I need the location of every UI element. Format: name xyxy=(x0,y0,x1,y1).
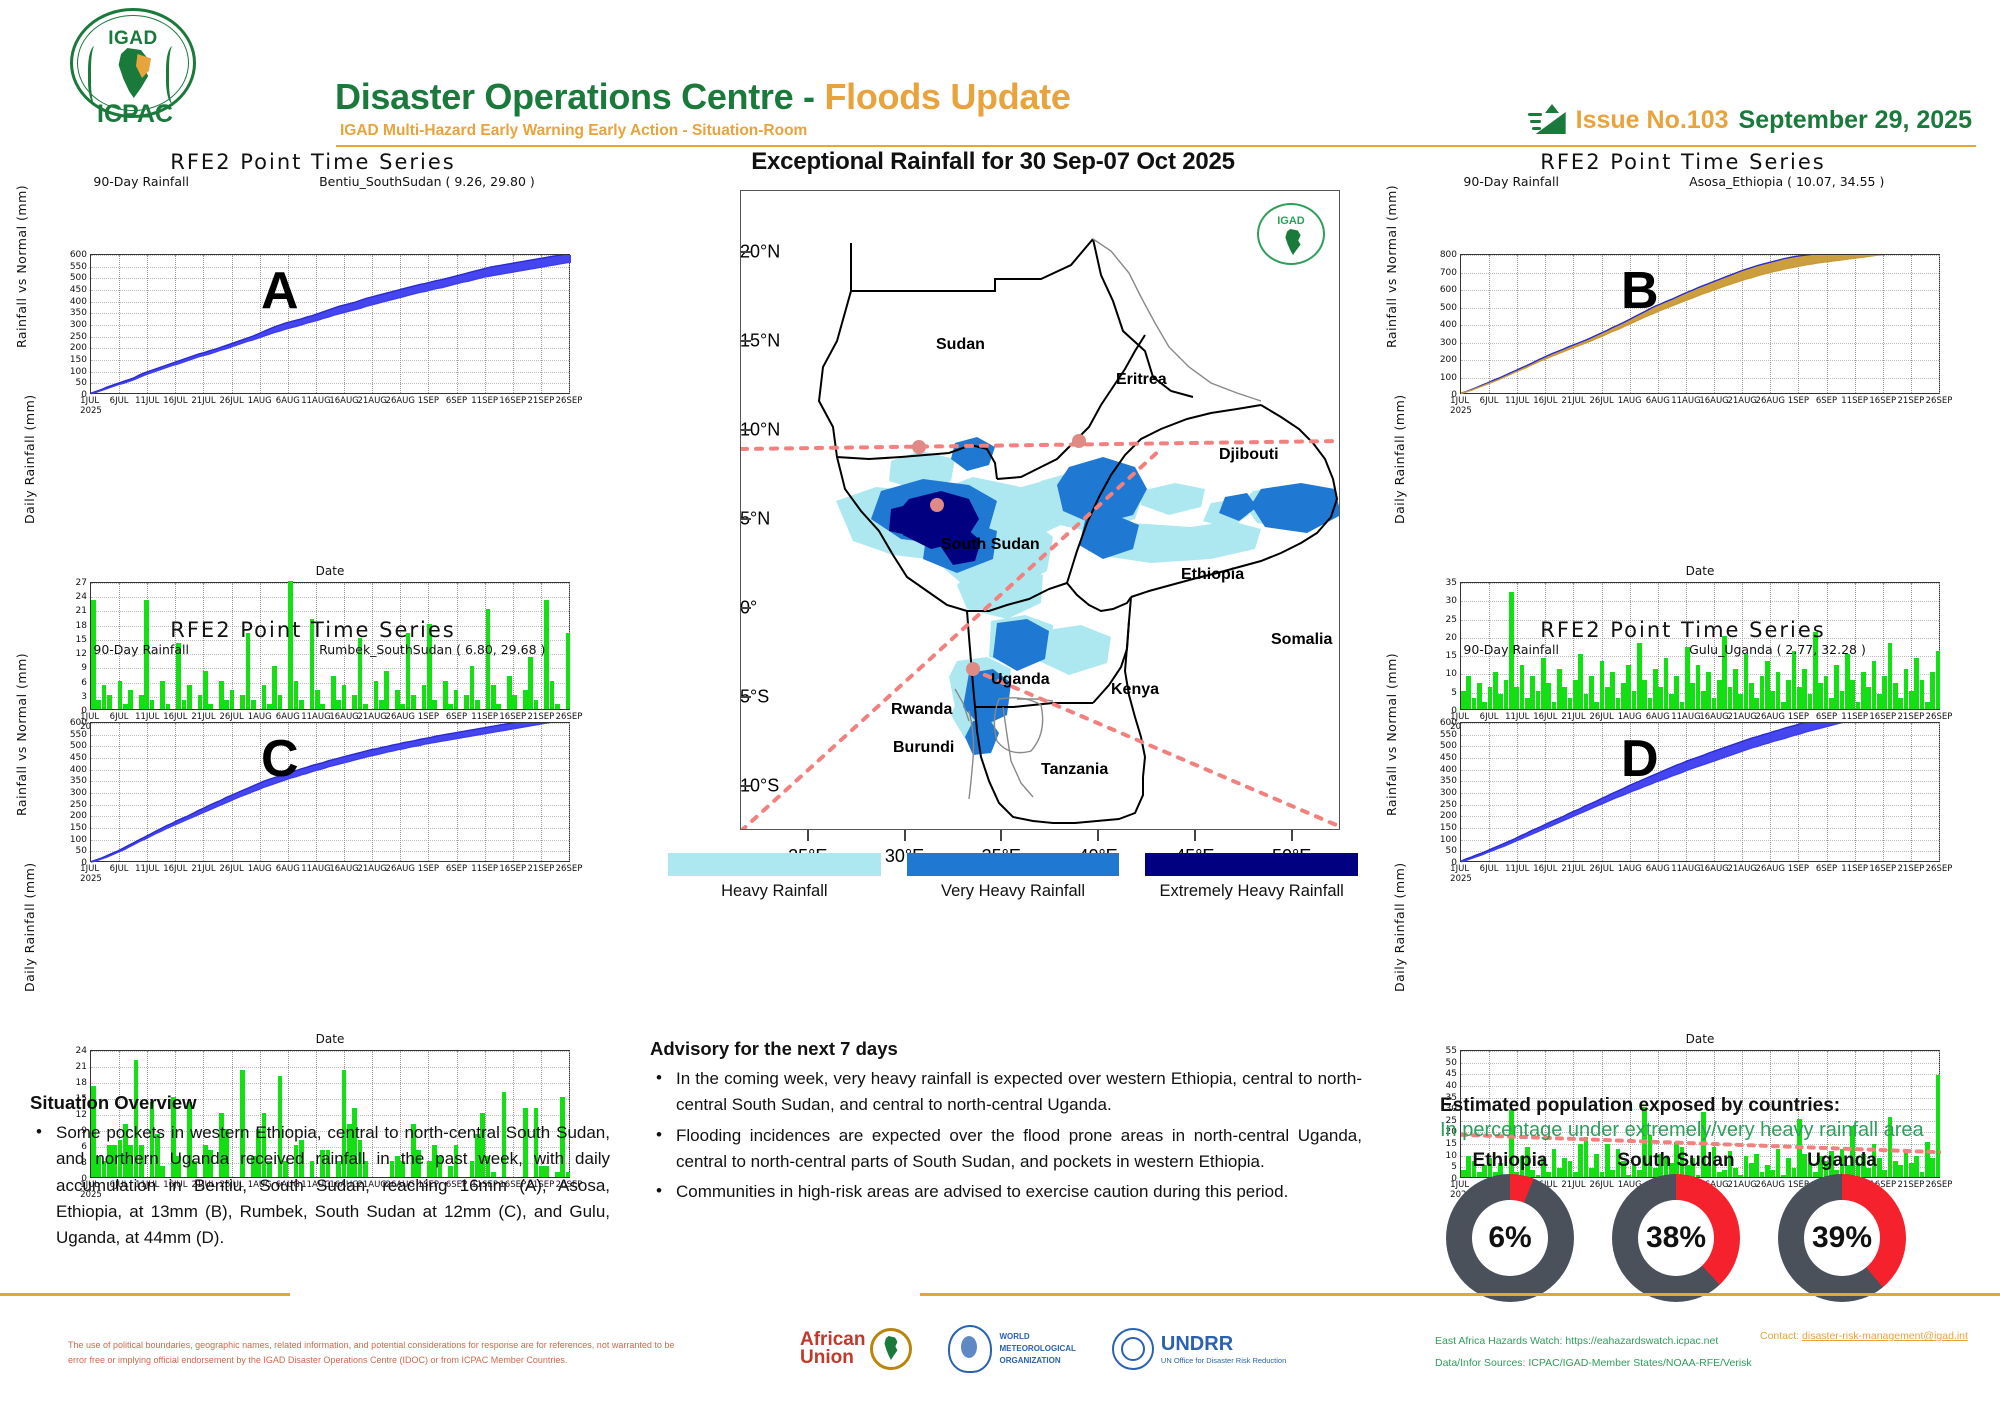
x-tick: 1SEP xyxy=(1788,396,1809,406)
y-tick: 300 xyxy=(70,788,87,798)
y-tick: 200 xyxy=(1440,355,1457,365)
wmo-emblem-icon xyxy=(948,1325,992,1373)
x-tick: 1JUL2025 xyxy=(80,396,102,416)
x-tick: 1AUG xyxy=(248,864,272,874)
legend-swatch xyxy=(668,853,881,876)
donut-percent: 6% xyxy=(1472,1200,1548,1276)
x-tick: 1SEP xyxy=(1788,864,1809,874)
x-tick: 26SEP xyxy=(556,396,583,406)
y-tick: 200 xyxy=(70,343,87,353)
y-tick: 300 xyxy=(1440,788,1457,798)
x-tick: 21JUL xyxy=(191,396,215,406)
y-tick: 400 xyxy=(1440,320,1457,330)
x-tick: 16JUL xyxy=(1533,864,1557,874)
y-tick: 150 xyxy=(70,823,87,833)
y-tick: 400 xyxy=(70,765,87,775)
legend-swatch xyxy=(1145,853,1358,876)
chart-letter: D xyxy=(1621,729,1659,789)
map-svg xyxy=(741,191,1340,830)
x-tick: 6JUL xyxy=(1480,396,1499,406)
chart-letter: A xyxy=(261,261,299,321)
donut-uganda: Uganda 39% xyxy=(1772,1150,1912,1302)
chart-subtitle: 90-Day Rainfall Gulu_Uganda ( 2.77, 32.2… xyxy=(1378,642,1988,664)
top-y-axis-label: Rainfall vs Normal (mm) xyxy=(14,676,29,816)
header-divider xyxy=(336,145,1976,147)
cumulative-plot[interactable]: 050100150200250300350400450500550600 C1J… xyxy=(90,722,570,862)
y-tick: 200 xyxy=(1440,811,1457,821)
y-tick: 150 xyxy=(70,355,87,365)
chart-subtitle: 90-Day Rainfall Rumbek_SouthSudan ( 6.80… xyxy=(8,642,618,664)
cumulative-band xyxy=(91,723,571,863)
y-tick: 250 xyxy=(70,800,87,810)
x-tick: 16AUG xyxy=(1699,864,1728,874)
x-tick: 26AUG xyxy=(1756,864,1785,874)
y-tick: 50 xyxy=(76,846,87,856)
chart-title: RFE2 Point Time Series xyxy=(1378,618,1988,642)
x-tick: 11SEP xyxy=(471,864,498,874)
x-tick: 21SEP xyxy=(1898,864,1925,874)
page-header: IGAD ICPAC Disaster Operations Centre - … xyxy=(0,0,2000,150)
top-y-axis-label: Rainfall vs Normal (mm) xyxy=(14,208,29,348)
y-tick: 21 xyxy=(76,606,87,616)
map-lon-tickmark xyxy=(1194,830,1196,841)
x-tick: 16JUL xyxy=(163,396,187,406)
bottom-y-axis-label: Daily Rainfall (mm) xyxy=(1392,864,1407,992)
y-tick: 40 xyxy=(1446,1081,1457,1091)
population-subheading: In percentage under extremely/very heavy… xyxy=(1440,1119,1985,1142)
chart-panel-a: RFE2 Point Time Series 90-Day Rainfall B… xyxy=(8,150,618,480)
y-tick: 500 xyxy=(70,741,87,751)
x-tick: 1JUL2025 xyxy=(80,864,102,884)
x-tick: 21AUG xyxy=(1727,864,1756,874)
chart-title: RFE2 Point Time Series xyxy=(8,618,618,642)
x-tick: 21JUL xyxy=(191,864,215,874)
x-tick: 26SEP xyxy=(1926,396,1953,406)
legend-label: Heavy Rainfall xyxy=(668,882,881,901)
map-lat-tickmark xyxy=(740,785,751,787)
cumulative-band xyxy=(91,255,571,395)
y-tick: 200 xyxy=(70,811,87,821)
map-lat-tickmark xyxy=(740,696,751,698)
x-tick: 6SEP xyxy=(446,864,467,874)
x-tick: 26AUG xyxy=(386,864,415,874)
y-tick: 30 xyxy=(1446,596,1457,606)
legend-item-1: Very Heavy Rainfall xyxy=(907,853,1120,901)
donut-row: Ethiopia 6% South Sudan 38% Uganda 39% xyxy=(1440,1150,1985,1302)
x-tick: 21SEP xyxy=(1898,396,1925,406)
issue-number: Issue No.103 xyxy=(1576,106,1729,135)
map-label-kenya: Kenya xyxy=(1111,681,1159,699)
y-tick: 100 xyxy=(1440,373,1457,383)
hazards-watch-link[interactable]: East Africa Hazards Watch: https://eahaz… xyxy=(1435,1330,1752,1352)
footer-divider xyxy=(0,1293,2000,1296)
chart-sub-right: Asosa_Ethiopia ( 10.07, 34.55 ) xyxy=(1689,174,1884,189)
chart-panel-d: RFE2 Point Time Series 90-Day Rainfall G… xyxy=(1378,618,1988,948)
list-item: Some pockets in western Ethiopia, centra… xyxy=(30,1120,610,1252)
y-tick: 24 xyxy=(76,1046,87,1056)
list-item: Communities in high-risk areas are advis… xyxy=(650,1179,1362,1205)
map-legend: Heavy Rainfall Very Heavy Rainfall Extre… xyxy=(668,853,1358,901)
donut-ring: 6% xyxy=(1446,1174,1574,1302)
x-axis-label: Date xyxy=(1460,1032,1940,1046)
y-tick: 600 xyxy=(1440,285,1457,295)
y-tick: 250 xyxy=(70,332,87,342)
flood-icon xyxy=(1528,104,1566,136)
x-tick: 11AUG xyxy=(301,396,330,406)
map-label-eritrea: Eritrea xyxy=(1116,371,1167,389)
x-tick: 16SEP xyxy=(1869,864,1896,874)
map-label-sudan: Sudan xyxy=(936,336,985,354)
contact-email-link[interactable]: disaster-risk-management@igad.int xyxy=(1802,1330,1968,1342)
top-y-axis-label: Rainfall vs Normal (mm) xyxy=(1384,208,1399,348)
donut-percent: 39% xyxy=(1804,1200,1880,1276)
y-tick: 350 xyxy=(70,308,87,318)
y-tick: 27 xyxy=(76,578,87,588)
map-label-uganda: Uganda xyxy=(991,671,1050,689)
x-tick: 16SEP xyxy=(1869,396,1896,406)
population-exposure-block: Estimated population exposed by countrie… xyxy=(1440,1095,1985,1302)
wmo-line1: WORLD xyxy=(999,1332,1029,1341)
footer-links: East Africa Hazards Watch: https://eahaz… xyxy=(1435,1330,1752,1374)
chart-letter: B xyxy=(1621,261,1659,321)
contact-label: Contact: xyxy=(1760,1330,1802,1342)
donut-country-label: Uganda xyxy=(1772,1150,1912,1172)
x-tick: 11JUL xyxy=(135,396,159,406)
y-tick: 300 xyxy=(70,320,87,330)
y-tick: 550 xyxy=(70,262,87,272)
x-tick: 21AUG xyxy=(357,396,386,406)
undrr-logo: UNDRR UN Office for Disaster Risk Reduct… xyxy=(1112,1328,1286,1370)
y-tick: 500 xyxy=(1440,303,1457,313)
y-tick: 150 xyxy=(1440,823,1457,833)
x-tick: 11JUL xyxy=(1505,864,1529,874)
african-union-logo: AfricanUnion xyxy=(800,1328,912,1370)
data-sources-text: Data/Infor Sources: ICPAC/IGAD-Member St… xyxy=(1435,1352,1752,1374)
map-lat-tickmark xyxy=(740,429,751,431)
chart-sub-right: Gulu_Uganda ( 2.77, 32.28 ) xyxy=(1689,642,1866,657)
x-axis-label: Date xyxy=(1460,564,1940,578)
legend-item-2: Extremely Heavy Rainfall xyxy=(1145,853,1358,901)
page-subtitle: IGAD Multi-Hazard Early Warning Early Ac… xyxy=(340,122,807,140)
map-lon-tickmark xyxy=(1097,830,1099,841)
x-tick: 6AUG xyxy=(276,864,300,874)
bottom-y-axis-label: Daily Rainfall (mm) xyxy=(1392,396,1407,524)
x-tick: 26JUL xyxy=(1589,864,1613,874)
advisory-bullets: In the coming week, very heavy rainfall … xyxy=(650,1066,1362,1206)
chart-panel-b: RFE2 Point Time Series 90-Day Rainfall A… xyxy=(1378,150,1988,480)
y-tick: 45 xyxy=(1446,1069,1457,1079)
x-tick: 11AUG xyxy=(1671,396,1700,406)
chart-subtitle: 90-Day Rainfall Bentiu_SouthSudan ( 9.26… xyxy=(8,174,618,196)
cumulative-plot[interactable]: 0100200300400500600700800 B1JUL20256JUL1… xyxy=(1460,254,1940,394)
map-lon-tickmark xyxy=(1291,830,1293,841)
x-tick: 21AUG xyxy=(357,864,386,874)
legend-label: Extremely Heavy Rainfall xyxy=(1145,882,1358,901)
chart-sub-left: 90-Day Rainfall xyxy=(1463,174,1559,189)
x-tick: 6AUG xyxy=(1646,864,1670,874)
top-y-axis-label: Rainfall vs Normal (mm) xyxy=(1384,676,1399,816)
legend-swatch xyxy=(907,853,1120,876)
chart-sub-right: Bentiu_SouthSudan ( 9.26, 29.80 ) xyxy=(319,174,535,189)
population-heading: Estimated population exposed by countrie… xyxy=(1440,1095,1985,1117)
chart-subtitle: 90-Day Rainfall Asosa_Ethiopia ( 10.07, … xyxy=(1378,174,1988,196)
y-tick: 18 xyxy=(76,1078,87,1088)
rainfall-map[interactable]: IGAD SudanEritreaDjiboutiEthiopiaSouth S… xyxy=(740,190,1340,830)
list-item: Flooding incidences are expected over th… xyxy=(650,1123,1362,1176)
map-lat-tickmark xyxy=(740,607,751,609)
cumulative-band xyxy=(1461,255,1941,395)
x-tick: 26JUL xyxy=(1589,396,1613,406)
advisory-block: Advisory for the next 7 days In the comi… xyxy=(650,1038,1362,1210)
icpac-label: ICPAC xyxy=(70,100,200,129)
x-tick: 11SEP xyxy=(1841,864,1868,874)
chart-title: RFE2 Point Time Series xyxy=(1378,150,1988,174)
chart-sub-right: Rumbek_SouthSudan ( 6.80, 29.68 ) xyxy=(319,642,545,657)
bottom-y-axis-label: Daily Rainfall (mm) xyxy=(22,864,37,992)
au-line2: Union xyxy=(800,1347,854,1368)
x-axis-label: Date xyxy=(90,1032,570,1046)
map-lat-tickmark xyxy=(740,340,751,342)
y-tick: 500 xyxy=(1440,741,1457,751)
donut-ring: 39% xyxy=(1778,1174,1906,1302)
x-tick: 11AUG xyxy=(301,864,330,874)
x-tick: 26JUL xyxy=(219,396,243,406)
undrr-name: UNDRR xyxy=(1161,1333,1286,1356)
donut-ethiopia: Ethiopia 6% xyxy=(1440,1150,1580,1302)
x-tick: 21SEP xyxy=(528,396,555,406)
donut-ring: 38% xyxy=(1612,1174,1740,1302)
chart-sub-left: 90-Day Rainfall xyxy=(93,642,189,657)
y-tick: 450 xyxy=(1440,753,1457,763)
x-tick: 21JUL xyxy=(1561,864,1585,874)
x-tick: 1AUG xyxy=(1618,864,1642,874)
map-title: Exceptional Rainfall for 30 Sep-07 Oct 2… xyxy=(628,148,1358,176)
map-lon-tickmark xyxy=(1000,830,1002,841)
x-tick: 1SEP xyxy=(418,864,439,874)
cumulative-plot[interactable]: 050100150200250300350400450500550600 A1J… xyxy=(90,254,570,394)
x-tick: 1AUG xyxy=(248,396,272,406)
wmo-line3: ORGANIZATION xyxy=(999,1356,1060,1365)
x-tick: 26JUL xyxy=(219,864,243,874)
y-tick: 550 xyxy=(1440,730,1457,740)
issue-date: September 29, 2025 xyxy=(1739,106,1972,135)
x-tick: 11SEP xyxy=(1841,396,1868,406)
map-label-south-sudan: South Sudan xyxy=(941,536,1040,554)
situation-overview: Situation Overview Some pockets in weste… xyxy=(30,1092,610,1256)
x-tick: 1JUL2025 xyxy=(1450,864,1472,884)
x-tick: 11AUG xyxy=(1671,864,1700,874)
y-tick: 100 xyxy=(70,367,87,377)
chart-sub-left: 90-Day Rainfall xyxy=(1463,642,1559,657)
map-label-djibouti: Djibouti xyxy=(1219,446,1279,464)
y-tick: 55 xyxy=(1446,1046,1457,1056)
wmo-logo: WORLDMETEOROLOGICALORGANIZATION xyxy=(948,1325,1075,1373)
y-tick: 350 xyxy=(70,776,87,786)
x-tick: 21AUG xyxy=(1727,396,1756,406)
list-item: In the coming week, very heavy rainfall … xyxy=(650,1066,1362,1119)
donut-country-label: South Sudan xyxy=(1606,1150,1746,1172)
x-tick: 6AUG xyxy=(276,396,300,406)
x-tick: 16SEP xyxy=(499,396,526,406)
footer-partner-logos: AfricanUnion WORLDMETEOROLOGICALORGANIZA… xyxy=(800,1325,1286,1373)
y-tick: 600 xyxy=(70,718,87,728)
legend-item-0: Heavy Rainfall xyxy=(668,853,881,901)
x-tick: 6JUL xyxy=(110,396,129,406)
y-tick: 300 xyxy=(1440,338,1457,348)
x-tick: 1SEP xyxy=(418,396,439,406)
x-tick: 1JUL2025 xyxy=(1450,396,1472,416)
x-tick: 26AUG xyxy=(1756,396,1785,406)
donut-country-label: Ethiopia xyxy=(1440,1150,1580,1172)
undrr-tagline: UN Office for Disaster Risk Reduction xyxy=(1161,1356,1286,1365)
x-tick: 16JUL xyxy=(163,864,187,874)
cumulative-band xyxy=(1461,723,1941,863)
y-tick: 600 xyxy=(1440,718,1457,728)
x-tick: 26SEP xyxy=(1926,864,1953,874)
chart-title: RFE2 Point Time Series xyxy=(8,150,618,174)
y-tick: 50 xyxy=(1446,1058,1457,1068)
y-tick: 250 xyxy=(1440,800,1457,810)
x-tick: 16AUG xyxy=(1699,396,1728,406)
map-label-somalia: Somalia xyxy=(1271,631,1332,649)
situation-bullets: Some pockets in western Ethiopia, centra… xyxy=(30,1120,610,1252)
footer-disclaimer: The use of political boundaries, geograp… xyxy=(68,1338,688,1369)
footer-contact: Contact: disaster-risk-management@igad.i… xyxy=(1760,1330,1968,1342)
x-axis-label: Date xyxy=(90,564,570,578)
y-tick: 400 xyxy=(1440,765,1457,775)
y-tick: 50 xyxy=(1446,846,1457,856)
y-tick: 600 xyxy=(70,250,87,260)
map-card: Exceptional Rainfall for 30 Sep-07 Oct 2… xyxy=(628,148,1358,1028)
x-tick: 1AUG xyxy=(1618,396,1642,406)
undrr-emblem-icon xyxy=(1112,1328,1154,1370)
donut-percent: 38% xyxy=(1638,1200,1714,1276)
x-tick: 6SEP xyxy=(446,396,467,406)
x-tick: 6JUL xyxy=(110,864,129,874)
y-tick: 100 xyxy=(70,835,87,845)
issue-block: Issue No.103 September 29, 2025 xyxy=(1528,104,1972,136)
x-tick: 16SEP xyxy=(499,864,526,874)
legend-label: Very Heavy Rainfall xyxy=(907,882,1120,901)
x-tick: 6AUG xyxy=(1646,396,1670,406)
y-tick: 800 xyxy=(1440,250,1457,260)
y-tick: 500 xyxy=(70,273,87,283)
x-tick: 6JUL xyxy=(1480,864,1499,874)
cumulative-plot[interactable]: 050100150200250300350400450500550600 D1J… xyxy=(1460,722,1940,862)
x-tick: 21SEP xyxy=(528,864,555,874)
bottom-y-axis-label: Daily Rainfall (mm) xyxy=(22,396,37,524)
map-label-burundi: Burundi xyxy=(893,739,954,757)
y-tick: 400 xyxy=(70,297,87,307)
x-tick: 16JUL xyxy=(1533,396,1557,406)
y-tick: 35 xyxy=(1446,578,1457,588)
x-tick: 26AUG xyxy=(386,396,415,406)
title-accent: Floods Update xyxy=(824,76,1070,117)
map-lat-tickmark xyxy=(740,251,751,253)
au-emblem-icon xyxy=(870,1328,912,1370)
x-tick: 21JUL xyxy=(1561,396,1585,406)
chart-panel-c: RFE2 Point Time Series 90-Day Rainfall R… xyxy=(8,618,618,948)
x-tick: 16AUG xyxy=(329,864,358,874)
x-tick: 6SEP xyxy=(1816,396,1837,406)
map-label-tanzania: Tanzania xyxy=(1041,761,1108,779)
map-label-rwanda: Rwanda xyxy=(891,701,952,719)
y-tick: 700 xyxy=(1440,268,1457,278)
chart-sub-left: 90-Day Rainfall xyxy=(93,174,189,189)
title-main: Disaster Operations Centre - xyxy=(335,76,824,117)
advisory-heading: Advisory for the next 7 days xyxy=(650,1038,1362,1060)
x-tick: 11JUL xyxy=(135,864,159,874)
x-tick: 11SEP xyxy=(471,396,498,406)
x-tick: 11JUL xyxy=(1505,396,1529,406)
y-tick: 21 xyxy=(76,1062,87,1072)
x-tick: 16AUG xyxy=(329,396,358,406)
y-tick: 550 xyxy=(70,730,87,740)
map-igad-watermark: IGAD xyxy=(1257,203,1325,265)
x-tick: 26SEP xyxy=(556,864,583,874)
y-tick: 450 xyxy=(70,285,87,295)
wmo-line2: METEOROLOGICAL xyxy=(999,1344,1075,1353)
y-tick: 350 xyxy=(1440,776,1457,786)
y-tick: 100 xyxy=(1440,835,1457,845)
donut-south-sudan: South Sudan 38% xyxy=(1606,1150,1746,1302)
x-tick: 6SEP xyxy=(1816,864,1837,874)
chart-letter: C xyxy=(261,729,299,789)
map-lon-tickmark xyxy=(807,830,809,841)
map-label-ethiopia: Ethiopia xyxy=(1181,566,1244,584)
map-lon-tickmark xyxy=(904,830,906,841)
situation-heading: Situation Overview xyxy=(30,1092,610,1114)
map-lat-tickmark xyxy=(740,518,751,520)
y-tick: 450 xyxy=(70,753,87,763)
y-tick: 24 xyxy=(76,592,87,602)
y-tick: 50 xyxy=(76,378,87,388)
page-title: Disaster Operations Centre - Floods Upda… xyxy=(335,76,1071,118)
